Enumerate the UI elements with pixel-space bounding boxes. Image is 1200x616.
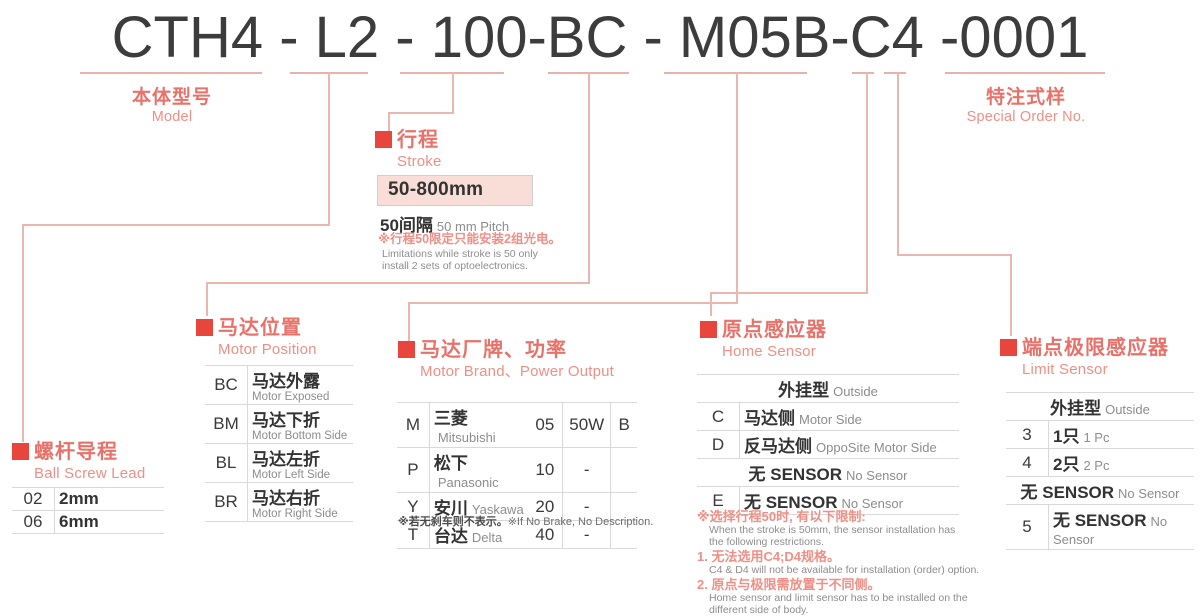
section-motorbrand-en: Motor Brand、Power Output	[420, 362, 614, 381]
stroke-note-en-1: Limitations while stroke is 50 only	[382, 248, 538, 260]
home-band-outside-cn: 外挂型	[778, 381, 829, 400]
brand-zh-1: 松下	[434, 454, 468, 473]
diagram-canvas: CTH4 - L2 - 100-BC - M05B-C4 -0001 本体型号 …	[0, 0, 1200, 601]
section-stroke-en: Stroke	[397, 152, 442, 171]
table-home-sensor: 外挂型Outside C 马达侧Motor Side D 反马达侧OppoSit…	[697, 374, 959, 515]
home-band-outside-en: Outside	[833, 384, 878, 399]
home-en-0: Motor Side	[799, 412, 862, 427]
power-value-1: -	[563, 448, 611, 493]
lead-code-0: 02	[12, 488, 55, 511]
connector-lead-h1	[22, 224, 330, 226]
table-row[interactable]: 3 1只1 Pc	[1006, 421, 1194, 449]
connector-limit-h1	[897, 254, 1012, 256]
brand-en-1: Panasonic	[438, 475, 499, 490]
motorpos-en-1: Motor Bottom Side	[252, 430, 349, 442]
connector-limit-v1	[897, 72, 899, 256]
limit-value-1: 2只2 Pc	[1049, 449, 1195, 477]
motorpos-en-0: Motor Exposed	[252, 391, 349, 403]
motor-brand-footnote-cn: ※若无刹车则不表示。	[398, 516, 508, 528]
home-note-item1-en: C4 & D4 will not be available for instal…	[709, 564, 1027, 576]
connector-motorpos-v1	[588, 72, 590, 284]
brand-zh-3: 台达	[434, 527, 468, 546]
home-note-item2-cn: 2. 原点与极限需放置于不同侧。	[697, 578, 1027, 592]
home-note-title-en-1: When the stroke is 50mm, the sensor inst…	[709, 524, 1027, 536]
home-sensor-notes: ※选择行程50时, 有以下限制: When the stroke is 50mm…	[697, 510, 1027, 616]
motorpos-zh-2: 马达左折	[252, 450, 320, 469]
brand-code-0: M	[397, 403, 429, 448]
connector-motorbrand-h1	[408, 302, 738, 304]
motorpos-code-2: BL	[205, 444, 248, 483]
table-row[interactable]: BM 马达下折 Motor Bottom Side	[205, 405, 353, 444]
lead-zh-0: 2mm	[59, 489, 99, 508]
section-lead-cn: 螺杆导程	[34, 442, 118, 463]
brand-zh-0: 三菱	[434, 409, 468, 428]
section-home-en: Home Sensor	[722, 342, 827, 361]
section-stroke: 行程 Stroke	[375, 130, 442, 171]
home-code-1: D	[697, 431, 740, 459]
motorpos-value-2: 马达左折 Motor Left Side	[248, 444, 354, 483]
limit-sensor-marker-icon	[1000, 339, 1017, 356]
connector-home-h1	[710, 292, 868, 294]
limit-band-nosensor-en: No Sensor	[1118, 486, 1179, 501]
motorbrand-marker-icon	[398, 341, 415, 358]
home-value-0: 马达侧Motor Side	[740, 403, 960, 431]
brand-name-1: 松下Panasonic	[429, 448, 527, 493]
home-band-nosensor-en: No Sensor	[846, 468, 907, 483]
limit-zh-0: 1只	[1053, 427, 1079, 446]
motor-brand-footnote: ※若无刹车则不表示。※If No Brake, No Description.	[398, 513, 653, 529]
table-row[interactable]: M 三菱Mitsubishi 05 50W B	[397, 403, 637, 448]
brand-code-1: P	[397, 448, 429, 493]
home-band-outside: 外挂型Outside	[697, 375, 959, 403]
brand-en-0: Mitsubishi	[438, 430, 496, 445]
home-note-item2-en-1: Home sensor and limit sensor has to be i…	[709, 592, 1027, 604]
stroke-range-box: 50-800mm	[377, 175, 533, 206]
table-band-row: 无 SENSORNo Sensor	[697, 459, 959, 487]
table-row[interactable]: BC 马达外露 Motor Exposed	[205, 366, 353, 405]
connector-limit-v2	[1010, 254, 1012, 336]
motorpos-value-1: 马达下折 Motor Bottom Side	[248, 405, 354, 444]
connector-motorpos-h1	[206, 282, 590, 284]
home-note-item2-en-2: different side of body.	[709, 604, 1027, 616]
motorpos-value-3: 马达右折 Motor Right Side	[248, 483, 354, 522]
power-code-0: 05	[528, 403, 563, 448]
table-band-row: 外挂型Outside	[697, 375, 959, 403]
connector-motorpos-v2	[206, 282, 208, 316]
brake-code-1	[611, 448, 637, 493]
table-row[interactable]: 02 2mm	[12, 488, 164, 511]
section-ball-screw-lead: 螺杆导程 Ball Screw Lead	[12, 442, 145, 483]
home-band-nosensor: 无 SENSORNo Sensor	[697, 459, 959, 487]
part-number: CTH4 - L2 - 100-BC - M05B-C4 -0001	[0, 4, 1200, 71]
section-home-sensor: 原点感应器 Home Sensor	[700, 320, 827, 361]
underline-special	[945, 72, 1105, 74]
motorpos-zh-1: 马达下折	[252, 411, 320, 430]
motor-brand-footnote-en: ※If No Brake, No Description.	[508, 516, 654, 528]
home-zh-0: 马达侧	[744, 409, 795, 428]
lead-marker-icon	[12, 443, 29, 460]
section-special-order-cn: 特注式样	[940, 82, 1112, 109]
section-model: 本体型号 Model	[100, 82, 244, 125]
section-special-order: 特注式样 Special Order No.	[940, 82, 1112, 125]
connector-motorbrand-v1	[736, 72, 738, 304]
limit-band-nosensor-cn: 无 SENSOR	[1021, 483, 1115, 502]
limit-band-outside-en: Outside	[1105, 402, 1150, 417]
section-stroke-cn: 行程	[397, 130, 439, 151]
motorpos-code-0: BC	[205, 366, 248, 405]
table-limit-sensor: 外挂型Outside 3 1只1 Pc 4 2只2 Pc 无 SENSORNo …	[1006, 392, 1194, 550]
section-lead-en: Ball Screw Lead	[34, 464, 145, 483]
home-zh-1: 反马达侧	[744, 437, 812, 456]
section-motor-brand: 马达厂牌、功率 Motor Brand、Power Output	[398, 340, 614, 381]
connector-lead-v1	[328, 72, 330, 226]
table-row[interactable]: 5 无 SENSORNo Sensor	[1006, 505, 1194, 550]
underline-model	[80, 72, 262, 74]
table-band-row: 无 SENSORNo Sensor	[1006, 477, 1194, 505]
motorpos-en-3: Motor Right Side	[252, 508, 349, 520]
connector-home-v1	[866, 72, 868, 294]
section-model-en: Model	[100, 109, 244, 125]
limit-zh-1: 2只	[1053, 455, 1079, 474]
power-code-1: 10	[528, 448, 563, 493]
limit-zh-2: 无 SENSOR	[1053, 511, 1147, 530]
connector-stroke-h1	[388, 112, 454, 114]
limit-value-0: 1只1 Pc	[1049, 421, 1195, 449]
table-ball-screw-lead: 02 2mm 06 6mm	[12, 487, 164, 534]
limit-band-outside: 外挂型Outside	[1006, 393, 1194, 421]
motorpos-value-0: 马达外露 Motor Exposed	[248, 366, 354, 405]
brand-name-0: 三菱Mitsubishi	[429, 403, 527, 448]
table-row[interactable]: C 马达侧Motor Side	[697, 403, 959, 431]
limit-band-outside-cn: 外挂型	[1050, 399, 1101, 418]
lead-value-1: 6mm	[55, 511, 165, 534]
connector-stroke-v1	[452, 72, 454, 114]
table-row[interactable]: D 反马达侧OppoSite Motor Side	[697, 431, 959, 459]
section-motor-position: 马达位置 Motor Position	[196, 318, 317, 359]
home-band-nosensor-cn: 无 SENSOR	[749, 465, 843, 484]
motorpos-marker-icon	[196, 319, 213, 336]
section-special-order-en: Special Order No.	[940, 109, 1112, 125]
limit-code-2: 5	[1006, 505, 1049, 550]
brake-code-0: B	[611, 403, 637, 448]
brand-en-3: Delta	[472, 530, 502, 545]
table-row[interactable]: 4 2只2 Pc	[1006, 449, 1194, 477]
limit-band-nosensor: 无 SENSORNo Sensor	[1006, 477, 1194, 505]
limit-en-1: 2 Pc	[1083, 458, 1109, 473]
section-motorpos-cn: 马达位置	[218, 318, 302, 339]
home-note-title-cn: ※选择行程50时, 有以下限制:	[697, 510, 1027, 524]
stroke-note-cn: ※行程50限定只能安装2组光电。	[378, 232, 561, 246]
table-row[interactable]: 06 6mm	[12, 511, 164, 534]
table-motor-position: BC 马达外露 Motor Exposed BM 马达下折 Motor Bott…	[205, 365, 353, 522]
home-value-1: 反马达侧OppoSite Motor Side	[740, 431, 960, 459]
section-home-cn: 原点感应器	[722, 320, 827, 341]
stroke-note-en-2: install 2 sets of optoelectronics.	[382, 260, 528, 272]
home-note-item1-cn: 1. 无法选用C4;D4规格。	[697, 550, 1027, 564]
home-sensor-marker-icon	[700, 321, 717, 338]
section-model-cn: 本体型号	[100, 82, 244, 109]
lead-code-1: 06	[12, 511, 55, 534]
table-row[interactable]: BR 马达右折 Motor Right Side	[205, 483, 353, 522]
limit-value-2: 无 SENSORNo Sensor	[1049, 505, 1195, 550]
table-row[interactable]: BL 马达左折 Motor Left Side	[205, 444, 353, 483]
motorpos-code-1: BM	[205, 405, 248, 444]
lead-value-0: 2mm	[55, 488, 165, 511]
home-code-0: C	[697, 403, 740, 431]
motorpos-en-2: Motor Left Side	[252, 469, 349, 481]
motorpos-code-3: BR	[205, 483, 248, 522]
section-motorbrand-cn: 马达厂牌、功率	[420, 340, 567, 361]
section-limit-sensor: 端点极限感应器 Limit Sensor	[1000, 338, 1169, 379]
section-limit-cn: 端点极限感应器	[1022, 338, 1169, 359]
underline-home-sensor	[852, 72, 874, 74]
stroke-marker-icon	[375, 131, 392, 148]
home-note-title-en-2: the following restrictions.	[709, 536, 1027, 548]
table-row[interactable]: P 松下Panasonic 10 -	[397, 448, 637, 493]
power-value-0: 50W	[563, 403, 611, 448]
connector-lead-v2	[22, 224, 24, 442]
motorpos-zh-3: 马达右折	[252, 489, 320, 508]
home-en-1: OppoSite Motor Side	[816, 440, 937, 455]
limit-code-1: 4	[1006, 449, 1049, 477]
table-band-row: 外挂型Outside	[1006, 393, 1194, 421]
lead-zh-1: 6mm	[59, 512, 99, 531]
limit-en-0: 1 Pc	[1083, 430, 1109, 445]
section-limit-en: Limit Sensor	[1022, 360, 1169, 379]
section-motorpos-en: Motor Position	[218, 340, 317, 359]
connector-home-v2	[710, 292, 712, 316]
underline-limit-sensor	[884, 72, 906, 74]
motorpos-zh-0: 马达外露	[252, 372, 320, 391]
limit-code-0: 3	[1006, 421, 1049, 449]
